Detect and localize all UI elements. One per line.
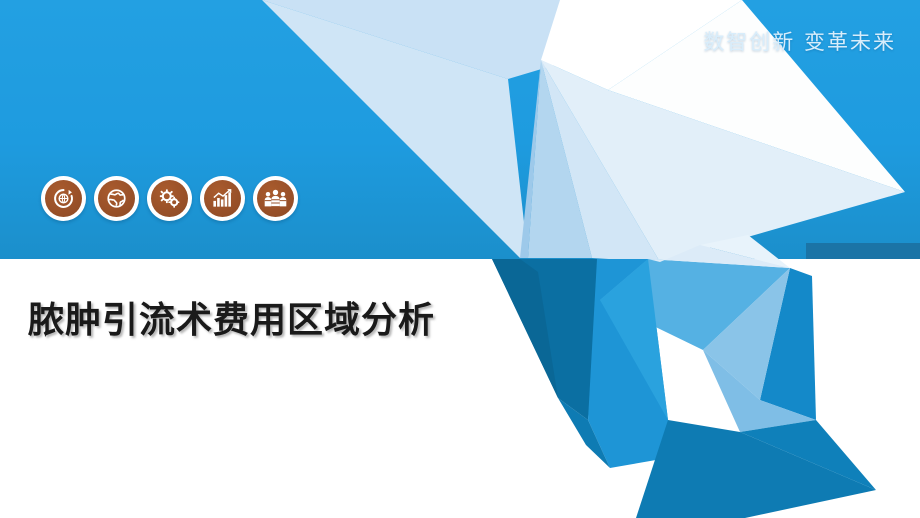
icon-chip-gears[interactable]: [147, 176, 192, 221]
icon-chip-bar-chart[interactable]: [200, 176, 245, 221]
tagline: 数智创新 变革未来: [703, 26, 896, 56]
globe-icon: [98, 180, 135, 217]
polygon-artwork: [0, 0, 920, 518]
bar-chart-growth-icon: [204, 180, 241, 217]
slide-canvas: 数智创新 变革未来: [0, 0, 920, 518]
poly-header-strip-dark: [806, 243, 920, 259]
people-group-icon: [257, 180, 294, 217]
globe-refresh-icon: [45, 180, 82, 217]
page-title: 脓肿引流术费用区域分析: [28, 291, 435, 343]
icon-chip-people[interactable]: [253, 176, 298, 221]
icon-chip-globe-refresh[interactable]: [41, 176, 86, 221]
gears-icon: [151, 180, 188, 217]
icon-row: [41, 176, 298, 221]
icon-chip-globe[interactable]: [94, 176, 139, 221]
